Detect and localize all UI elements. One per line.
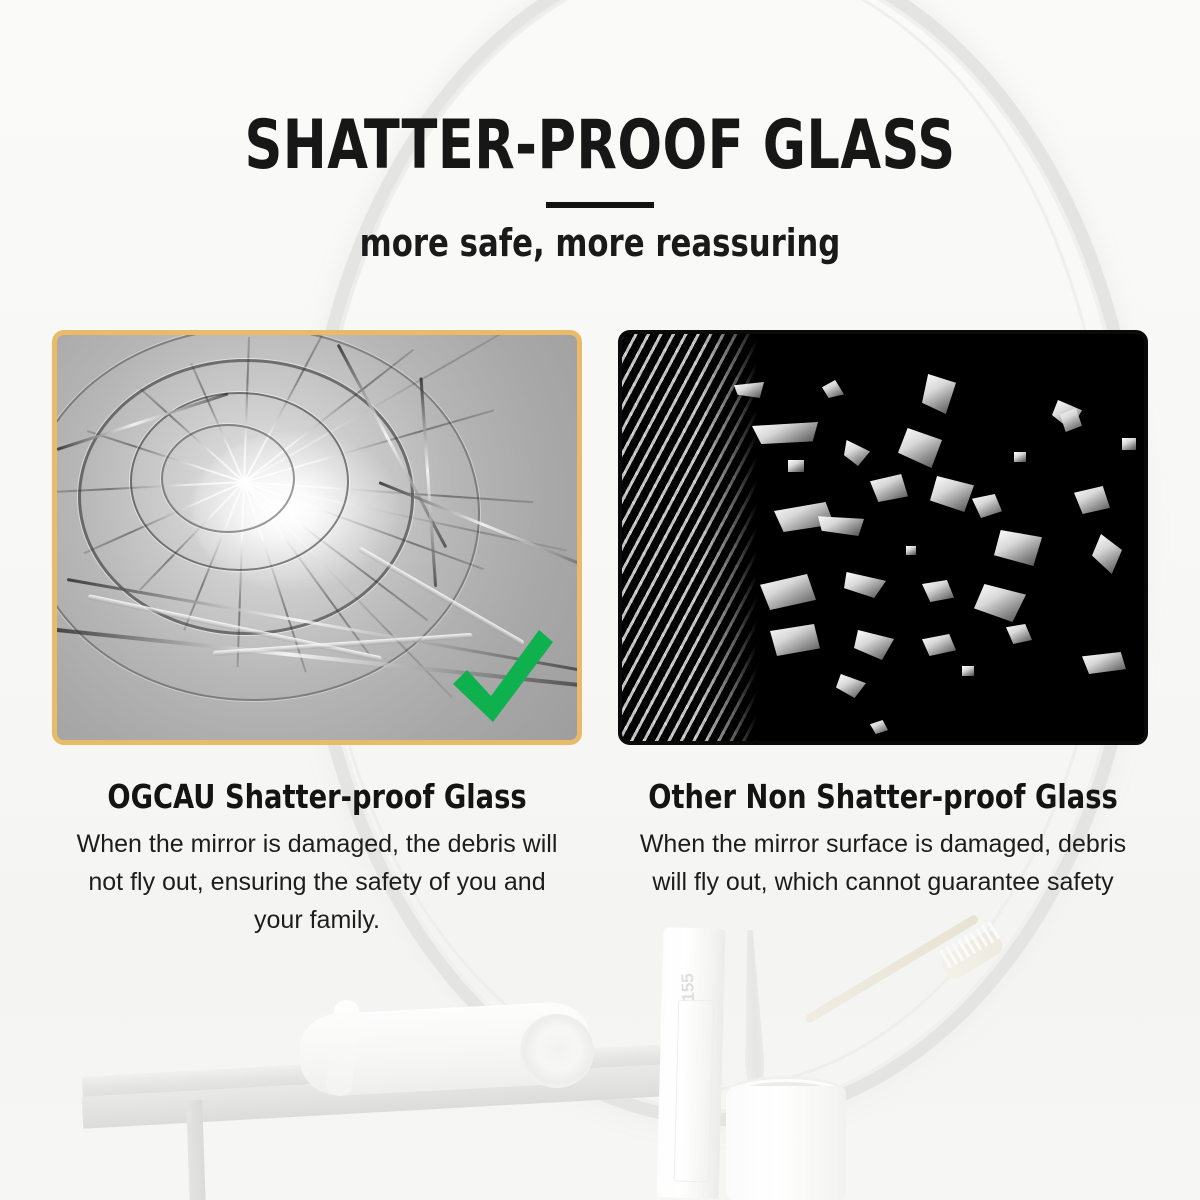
towel-tie xyxy=(325,999,361,1097)
bad-panel-body: When the mirror surface is damaged, debr… xyxy=(633,815,1133,901)
white-toothbrush xyxy=(733,929,773,1102)
toothbrush-cup xyxy=(726,1086,846,1200)
comparison-column-good: OGCAU Shatter-proof Glass When the mirro… xyxy=(52,330,582,939)
shelf-leg xyxy=(186,1100,206,1200)
toothbrush-cup-hollow xyxy=(736,1082,836,1106)
glass-fragment xyxy=(1122,438,1136,450)
page-title: SHATTER-PROOF GLASS xyxy=(84,0,1116,180)
toothpaste-tube xyxy=(656,927,725,1199)
good-panel-body: When the mirror is damaged, the debris w… xyxy=(67,815,567,939)
glass-fragment xyxy=(788,460,804,472)
toothpaste-tube-number: 155 xyxy=(678,973,699,1002)
cracked-glass-panel xyxy=(52,330,582,745)
comparison-column-bad: Other Non Shatter-proof Glass When the m… xyxy=(618,330,1148,939)
shelf-rack xyxy=(82,1043,682,1098)
toothbrush-cup-rim xyxy=(726,1076,846,1110)
glass-fragment xyxy=(906,546,916,555)
shattering-glass-mass xyxy=(622,334,757,741)
page-subtitle: more safe, more reassuring xyxy=(60,208,1140,264)
ring-crack-4 xyxy=(161,424,295,533)
header: SHATTER-PROOF GLASS more safe, more reas… xyxy=(0,0,1200,264)
bad-panel-heading: Other Non Shatter-proof Glass xyxy=(639,745,1127,815)
green-check-icon xyxy=(447,626,559,726)
comparison-columns: OGCAU Shatter-proof Glass When the mirro… xyxy=(0,330,1200,939)
good-panel-heading: OGCAU Shatter-proof Glass xyxy=(73,745,561,815)
rolled-towel xyxy=(298,1000,592,1097)
product-feature-page: 155 SHATTER-PROOF GLASS more safe, more … xyxy=(0,0,1200,1200)
glass-fragment xyxy=(962,666,974,676)
rolled-towel-end xyxy=(518,1012,596,1090)
toothpaste-tube-label xyxy=(674,1000,715,1183)
glass-fragment xyxy=(1014,452,1026,462)
shelf-face xyxy=(82,1063,683,1128)
flying-shards-panel xyxy=(618,330,1148,745)
